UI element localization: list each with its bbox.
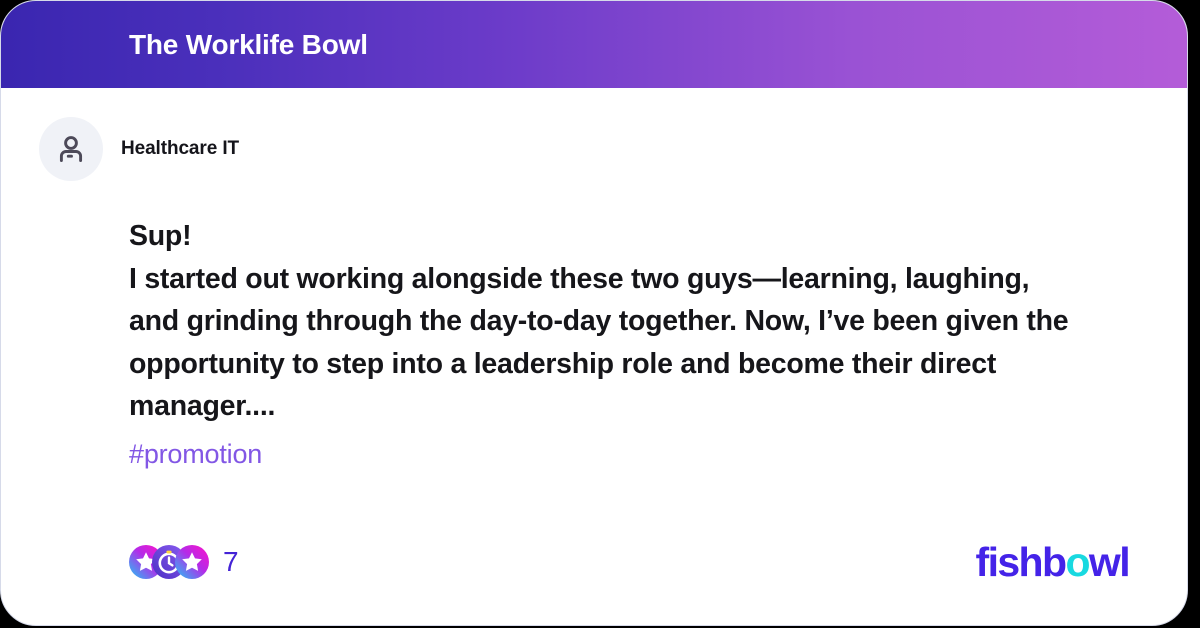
poster-name: Healthcare IT <box>121 138 239 160</box>
card-header: The Worklife Bowl <box>1 1 1187 88</box>
fishbowl-logo-accent-o: o <box>1065 539 1088 585</box>
reaction-icon-stack[interactable] <box>129 545 209 579</box>
bowl-title: The Worklife Bowl <box>129 31 368 59</box>
fishbowl-logo-part1: fishb <box>976 539 1066 585</box>
card-body: Healthcare IT Sup! I started out working… <box>1 88 1187 625</box>
person-icon <box>54 132 88 166</box>
card-footer: 7 fishbowl <box>1 534 1187 590</box>
poster-row: Healthcare IT <box>1 88 1187 181</box>
reactions-group[interactable]: 7 <box>129 545 239 579</box>
post-body-text: Sup! I started out working alongside the… <box>1 181 1187 428</box>
post-card: The Worklife Bowl Healthcare IT Sup! I s… <box>0 0 1188 626</box>
fishbowl-logo: fishbowl <box>976 542 1129 583</box>
post-hashtag[interactable]: #promotion <box>1 434 1187 474</box>
avatar <box>39 117 103 181</box>
reaction-count: 7 <box>223 546 239 578</box>
fishbowl-logo-part3: wl <box>1089 539 1129 585</box>
star-reaction-icon[interactable] <box>175 545 209 579</box>
